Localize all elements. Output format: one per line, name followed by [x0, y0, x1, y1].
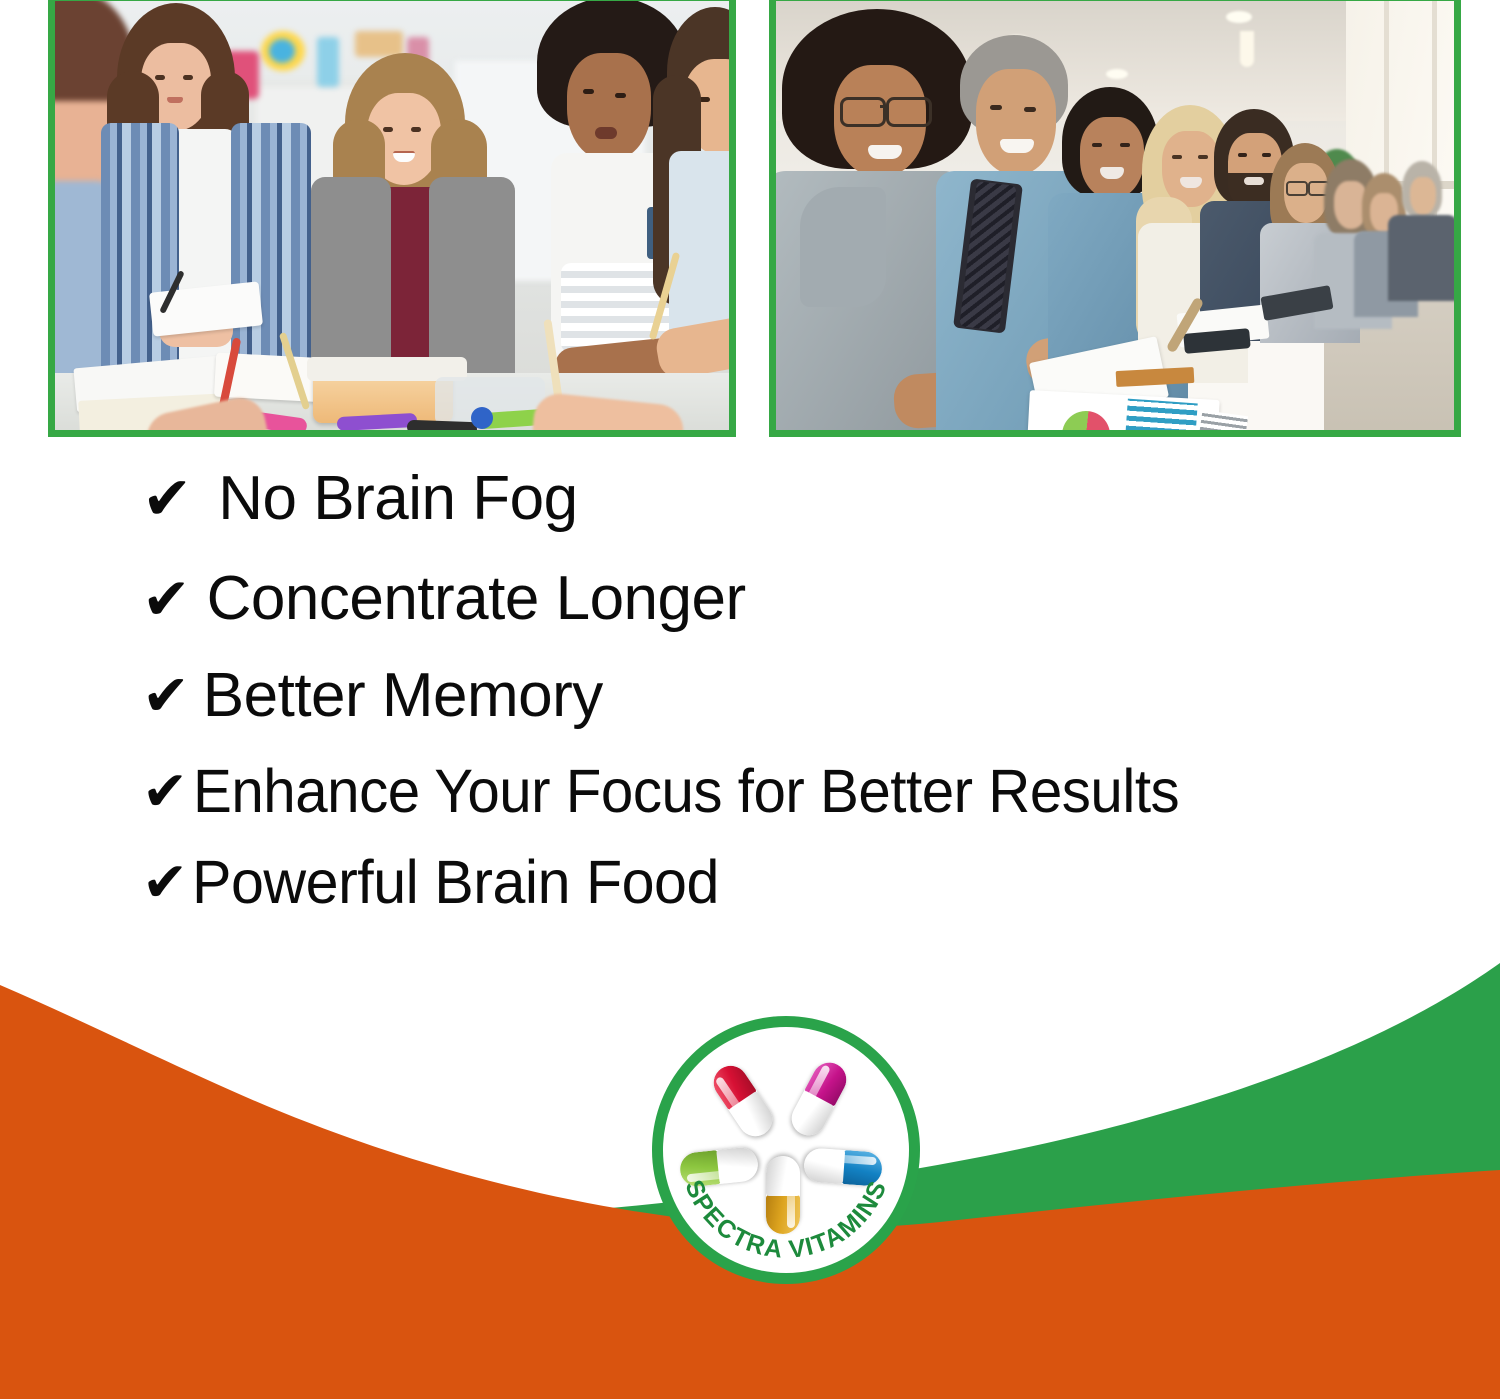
benefit-label: Better Memory [203, 665, 603, 727]
students-studying-scene [55, 1, 729, 430]
check-icon: ✔ [142, 855, 188, 910]
business-team-photo [769, 0, 1461, 437]
benefits-list: ✔ No Brain Fog ✔ Concentrate Longer ✔ Be… [0, 468, 1500, 913]
logo-wordmark-text: SPECTRA VITAMINS [679, 1176, 892, 1264]
benefit-item: ✔ Better Memory [0, 665, 1500, 727]
students-studying-photo [48, 0, 736, 437]
benefit-item: ✔ Concentrate Longer [0, 568, 1500, 630]
check-icon: ✔ [142, 668, 190, 725]
benefit-item: ✔ No Brain Fog [0, 468, 1500, 530]
check-icon: ✔ [142, 469, 192, 529]
benefit-label: No Brain Fog [218, 468, 577, 530]
benefit-label: Enhance Your Focus for Better Results [193, 761, 1179, 822]
check-icon: ✔ [142, 570, 191, 628]
benefit-label: Powerful Brain Food [192, 852, 719, 913]
logo-wordmark-textpath: SPECTRA VITAMINS [679, 1176, 892, 1264]
check-icon: ✔ [142, 764, 188, 819]
spectra-vitamins-logo: SPECTRA VITAMINS [652, 1016, 920, 1284]
benefit-item: ✔ Enhance Your Focus for Better Results [0, 761, 1500, 822]
business-team-scene [776, 1, 1454, 430]
product-benefits-graphic: ✔ No Brain Fog ✔ Concentrate Longer ✔ Be… [0, 0, 1500, 1399]
logo-wordmark: SPECTRA VITAMINS [652, 1016, 920, 1284]
benefit-label: Concentrate Longer [207, 568, 746, 630]
benefit-item: ✔ Powerful Brain Food [0, 852, 1500, 913]
